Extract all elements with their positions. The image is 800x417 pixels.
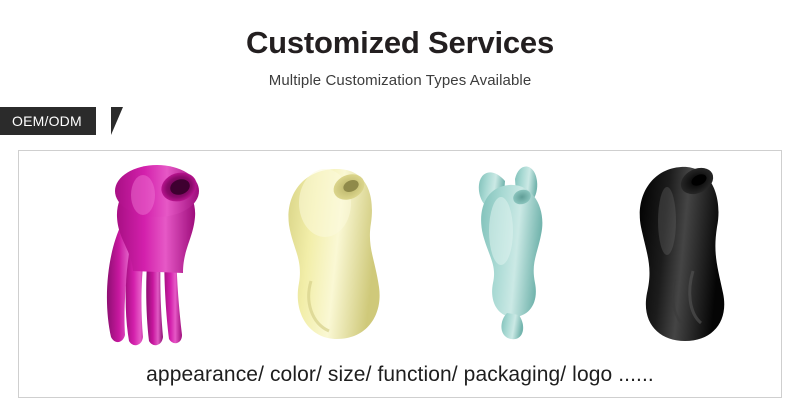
page-subtitle: Multiple Customization Types Available bbox=[0, 72, 800, 89]
customization-options-caption: appearance/ color/ size/ function/ packa… bbox=[19, 363, 781, 387]
product-mint bbox=[419, 151, 609, 347]
product-gallery bbox=[19, 151, 781, 347]
products-panel: appearance/ color/ size/ function/ packa… bbox=[18, 150, 782, 398]
oem-odm-badge: OEM/ODM bbox=[0, 107, 96, 135]
page-title: Customized Services bbox=[0, 0, 800, 60]
product-magenta bbox=[61, 151, 251, 347]
product-yellow-illustration bbox=[241, 151, 431, 347]
badge-notch-shape bbox=[111, 107, 123, 135]
product-mint-illustration bbox=[419, 151, 609, 347]
product-black bbox=[589, 151, 779, 347]
customized-services-banner: Customized Services Multiple Customizati… bbox=[0, 0, 800, 417]
badge-row: OEM/ODM bbox=[0, 107, 800, 135]
product-black-illustration bbox=[589, 151, 779, 347]
product-yellow bbox=[241, 151, 431, 347]
product-magenta-illustration bbox=[61, 151, 251, 347]
